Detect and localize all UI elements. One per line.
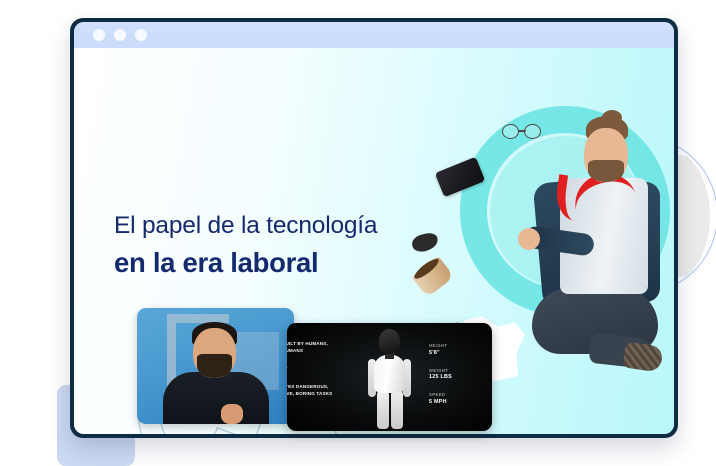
spec-weight-value: 125 LBS: [429, 374, 483, 380]
robot-head: [379, 329, 400, 354]
slide-title-block: El papel de la tecnología en la era labo…: [114, 210, 454, 282]
presenter-hand: [221, 404, 243, 424]
humanoid-robot-figure: [362, 329, 418, 429]
spec-speed: SPEED 5 MPH: [429, 392, 483, 405]
close-dot-icon[interactable]: [93, 29, 105, 41]
glasses-prop-icon: [502, 124, 548, 140]
beard: [588, 160, 624, 182]
spec-speed-label: SPEED: [429, 392, 483, 397]
spec-speed-value: 5 MPH: [429, 399, 483, 405]
spec-weight: WEIGHT 125 LBS: [429, 368, 483, 381]
left-hand: [518, 228, 540, 250]
presenter-torso: [163, 372, 269, 424]
robot-leg-right: [391, 389, 403, 429]
patterned-sock: [622, 341, 663, 372]
robot-leg-left: [377, 389, 389, 429]
spec-height-label: HEIGHT: [429, 343, 483, 348]
slide-title-line-1: El papel de la tecnología: [114, 210, 454, 242]
spec-height-value: 5'8": [429, 350, 483, 356]
minimize-dot-icon[interactable]: [114, 29, 126, 41]
meditating-businessman: [498, 112, 668, 412]
presenter-beard: [197, 354, 232, 378]
slide-title-line-2: en la era laboral: [114, 245, 454, 281]
robot-spec-list: HEIGHT 5'8" WEIGHT 125 LBS SPEED 5 MPH: [429, 343, 483, 417]
presenter-video-thumbnail[interactable]: [137, 308, 294, 424]
tesla-bot-slide-panel[interactable]: BUILT BY HUMANS, HUMANS LY ATES DANGEROU…: [287, 323, 492, 431]
maximize-dot-icon[interactable]: [135, 29, 147, 41]
spec-height: HEIGHT 5'8": [429, 343, 483, 356]
spec-weight-label: WEIGHT: [429, 368, 483, 373]
robot-torso: [374, 355, 405, 393]
hair-bun: [602, 110, 622, 125]
browser-titlebar: [74, 22, 674, 48]
screenshot-stage: CA: [0, 0, 716, 466]
